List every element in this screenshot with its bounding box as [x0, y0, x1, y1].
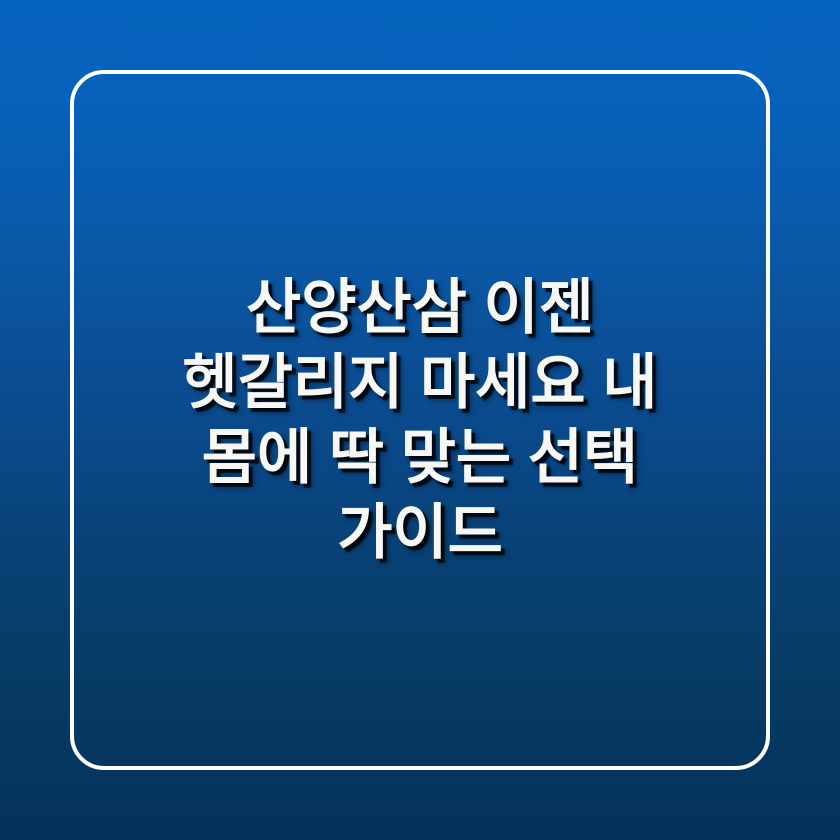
title-block: 산양산삼 이젠 헷갈리지 마세요 내 몸에 딱 맞는 선택 가이드: [0, 0, 840, 840]
page-title: 산양산삼 이젠 헷갈리지 마세요 내 몸에 딱 맞는 선택 가이드: [183, 270, 658, 570]
poster-canvas: 산양산삼 이젠 헷갈리지 마세요 내 몸에 딱 맞는 선택 가이드: [0, 0, 840, 840]
